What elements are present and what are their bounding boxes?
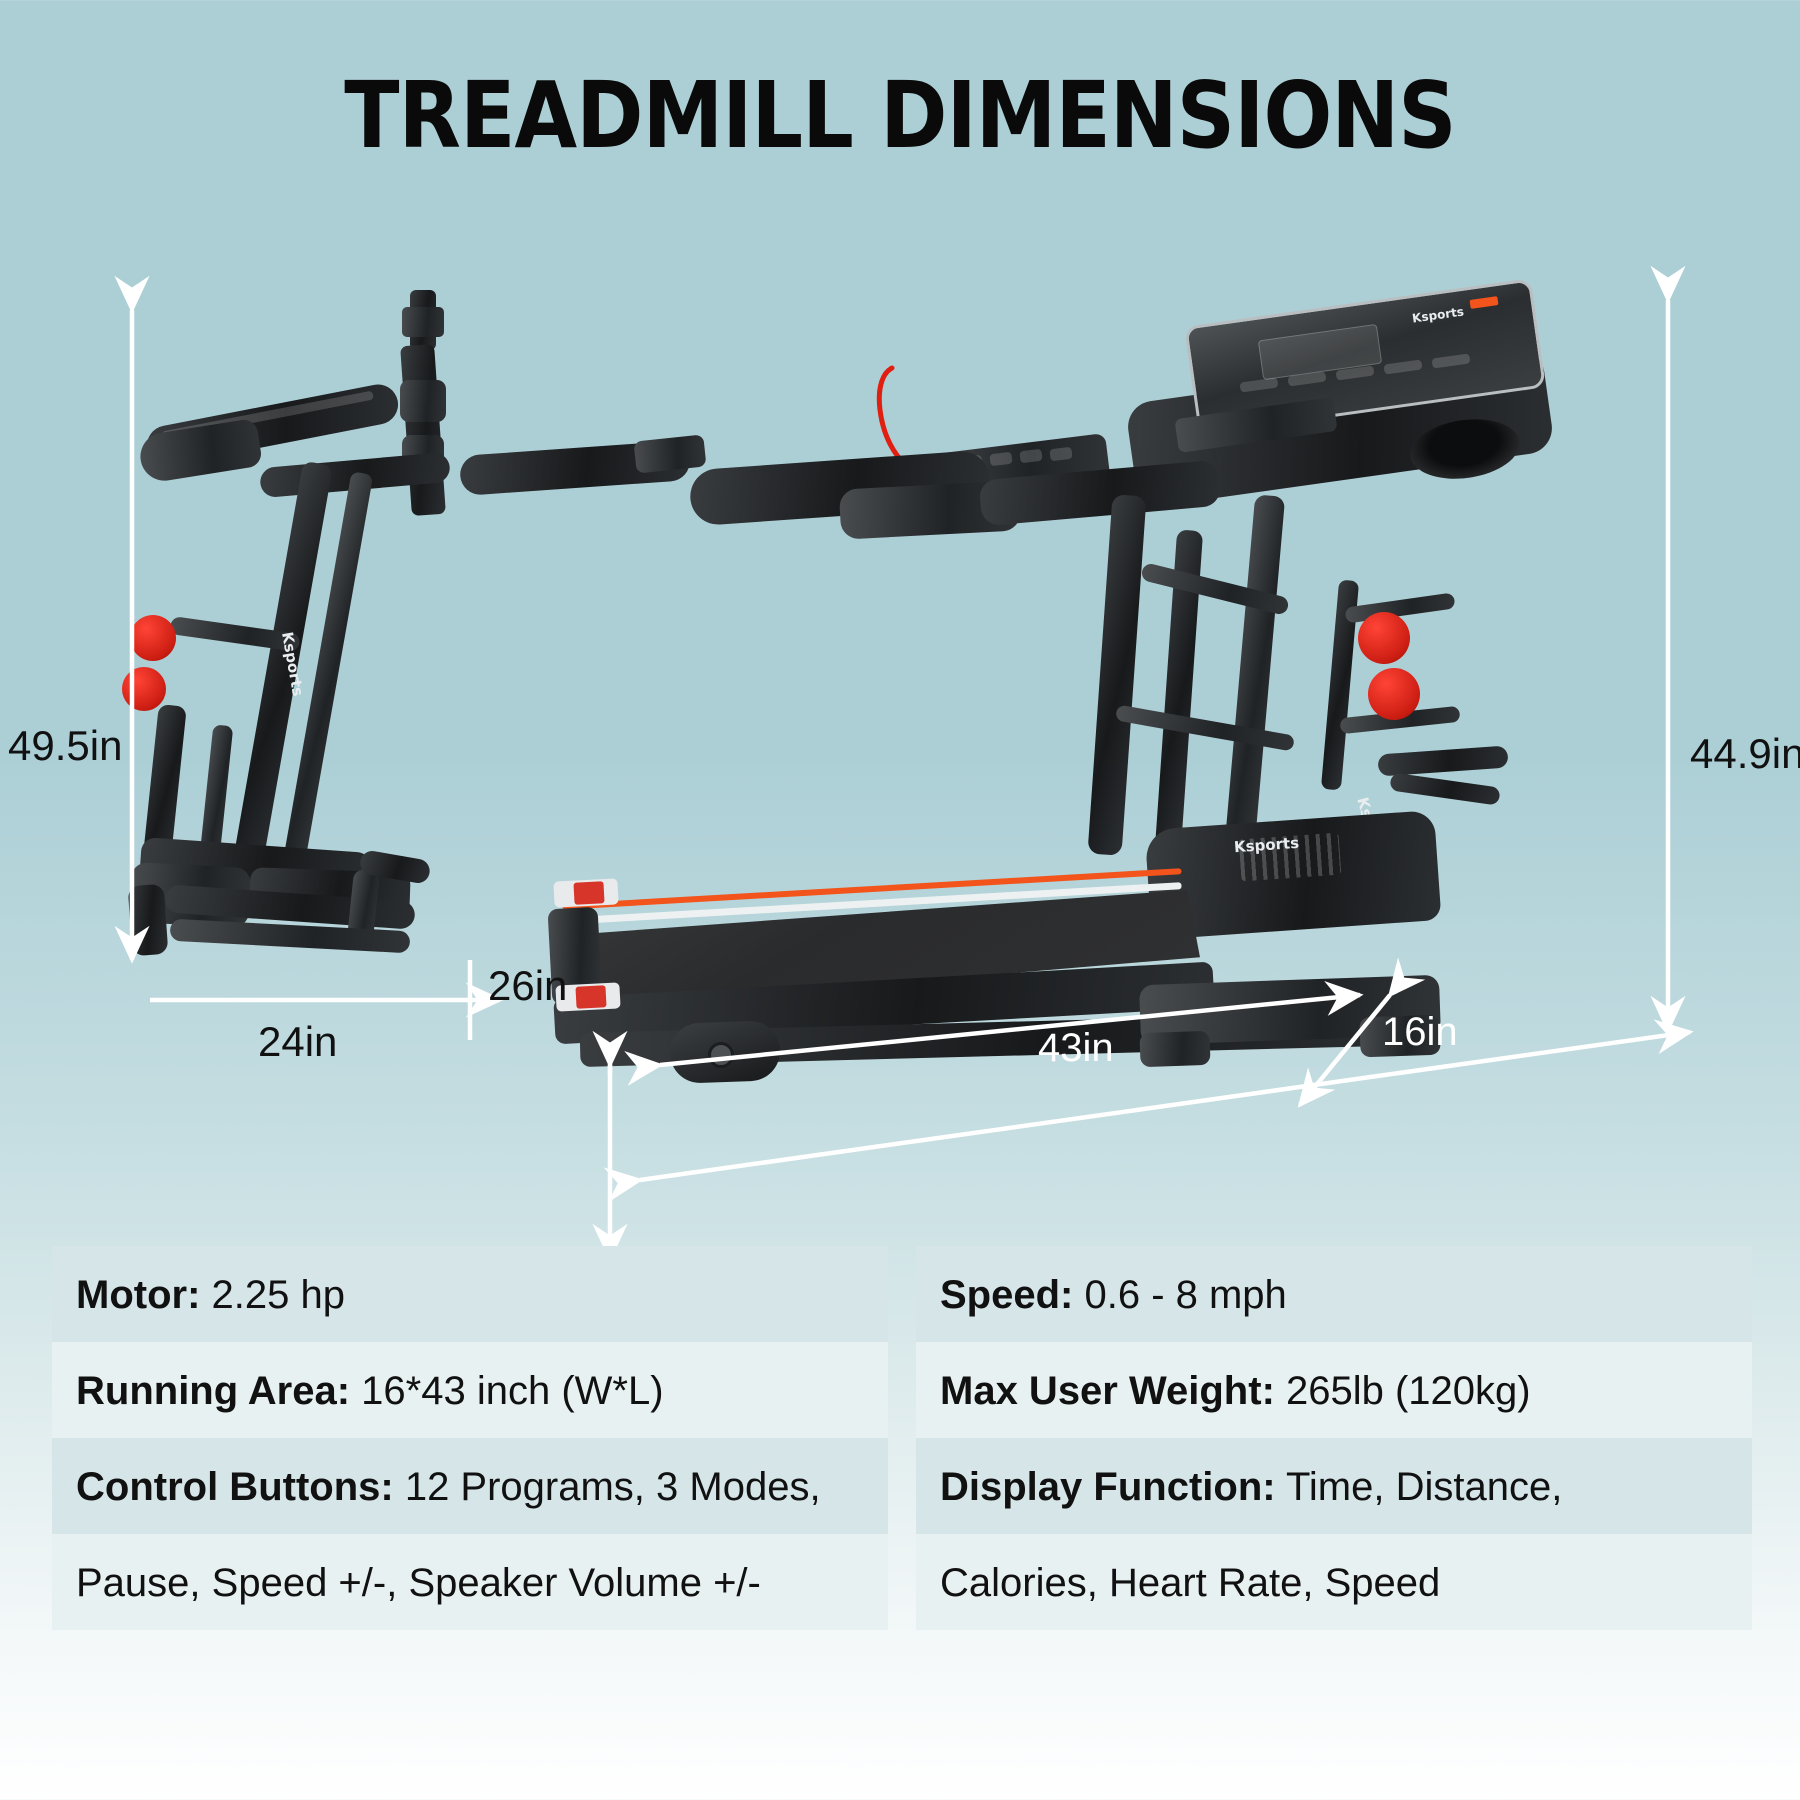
spec-label: Max User Weight: <box>940 1369 1275 1413</box>
spec-label: Display Function: <box>940 1465 1276 1509</box>
spec-row: Speed: 0.6 - 8 mph <box>916 1246 1752 1342</box>
spec-value: Calories, Heart Rate, Speed <box>940 1561 1440 1605</box>
specifications-section: Motor: 2.25 hp Running Area: 16*43 inch … <box>52 1246 1752 1754</box>
spec-row: Pause, Speed +/-, Speaker Volume +/- <box>52 1534 888 1630</box>
unfolded-treadmill-illustration: Ksports Ksports <box>540 280 1600 1080</box>
spec-value: 0.6 - 8 mph <box>1073 1273 1286 1317</box>
dumbbell-weight <box>1358 612 1410 664</box>
spec-value: 2.25 hp <box>200 1273 345 1317</box>
spec-value: 265lb (120kg) <box>1275 1369 1531 1413</box>
spec-row: Max User Weight: 265lb (120kg) <box>916 1342 1752 1438</box>
upright-post-front <box>1087 494 1146 855</box>
spec-row: Running Area: 16*43 inch (W*L) <box>52 1342 888 1438</box>
dimension-label-folded-height: 49.5in <box>8 722 122 770</box>
dumbbell-weight <box>122 667 166 711</box>
spec-table-left: Motor: 2.25 hp Running Area: 16*43 inch … <box>52 1246 888 1754</box>
dimension-label-belt-width: 16in <box>1382 1010 1458 1055</box>
spec-value: 12 Programs, 3 Modes, <box>394 1465 821 1509</box>
spec-label: Running Area: <box>76 1369 350 1413</box>
spec-label: Motor: <box>76 1273 200 1317</box>
spec-row: Calories, Heart Rate, Speed <box>916 1534 1752 1630</box>
page-title: TREADMILL DIMENSIONS <box>108 62 1692 169</box>
dimension-label-belt-length: 43in <box>1038 1026 1114 1071</box>
spec-row: Display Function: Time, Distance, <box>916 1438 1752 1534</box>
dimension-label-unfolded-height: 44.9in <box>1690 730 1800 778</box>
spec-row: Control Buttons: 12 Programs, 3 Modes, <box>52 1438 888 1534</box>
folded-treadmill-illustration: Ksports <box>110 285 530 965</box>
dimension-label-folded-width: 26in <box>488 962 567 1010</box>
spec-row: Motor: 2.25 hp <box>52 1246 888 1342</box>
infographic-canvas: TREADMILL DIMENSIONS Ksports <box>0 0 1800 1800</box>
spec-value: Pause, Speed +/-, Speaker Volume +/- <box>76 1561 761 1605</box>
dumbbell-weight <box>130 615 176 661</box>
spec-table-right: Speed: 0.6 - 8 mph Max User Weight: 265l… <box>916 1246 1752 1754</box>
spec-value: Time, Distance, <box>1276 1465 1563 1509</box>
spec-label: Speed: <box>940 1273 1073 1317</box>
dumbbell-weight <box>1368 668 1420 720</box>
spec-label: Control Buttons: <box>76 1465 394 1509</box>
upright-post-rear <box>1225 494 1285 845</box>
spec-value: 16*43 inch (W*L) <box>350 1369 663 1413</box>
dimension-label-folded-depth: 24in <box>258 1018 337 1066</box>
